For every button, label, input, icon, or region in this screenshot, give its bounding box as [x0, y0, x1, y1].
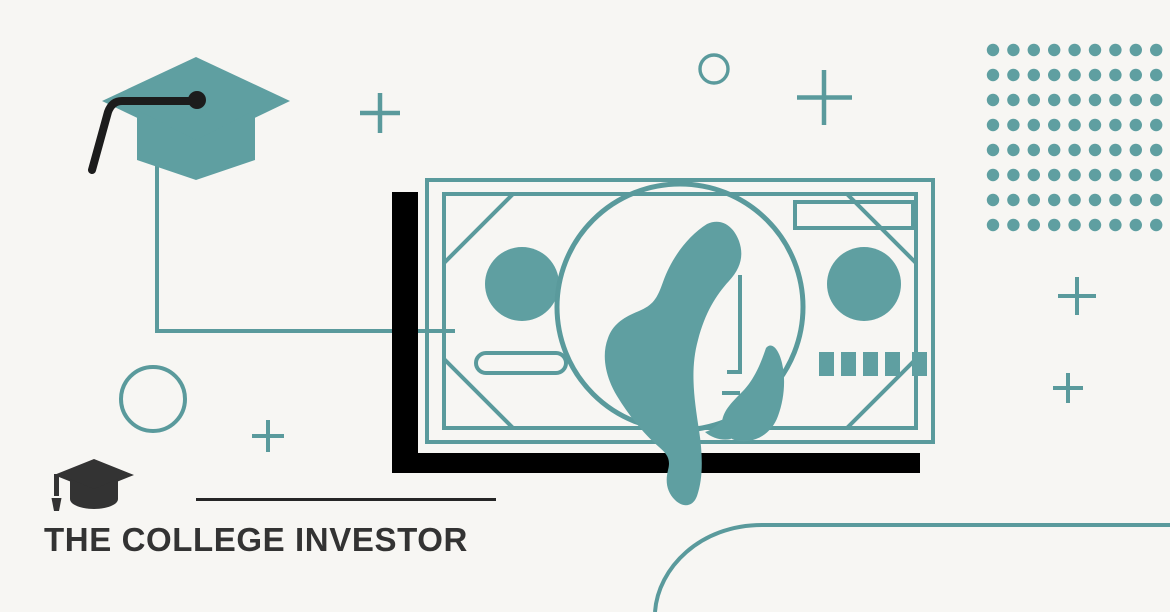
brand-name: THE COLLEGE INVESTOR: [44, 519, 468, 556]
banknote-seal-right: [827, 247, 901, 321]
dot-grid-row: [987, 44, 1163, 56]
dot-grid-row: [987, 219, 1163, 231]
dot-grid-row: [987, 194, 1163, 206]
dot-grid-row: [987, 119, 1163, 131]
dot-grid-row: [987, 94, 1163, 106]
dot-grid-row: [987, 144, 1163, 156]
graduation-cap-icon: [44, 455, 136, 513]
dot-grid-row: [987, 169, 1163, 181]
graphic-canvas: THE COLLEGE INVESTOR: [0, 0, 1170, 612]
dot-grid-row: [987, 69, 1163, 81]
banknote-seal-left: [485, 247, 559, 321]
brand-lockup[interactable]: THE COLLEGE INVESTOR: [44, 455, 468, 556]
